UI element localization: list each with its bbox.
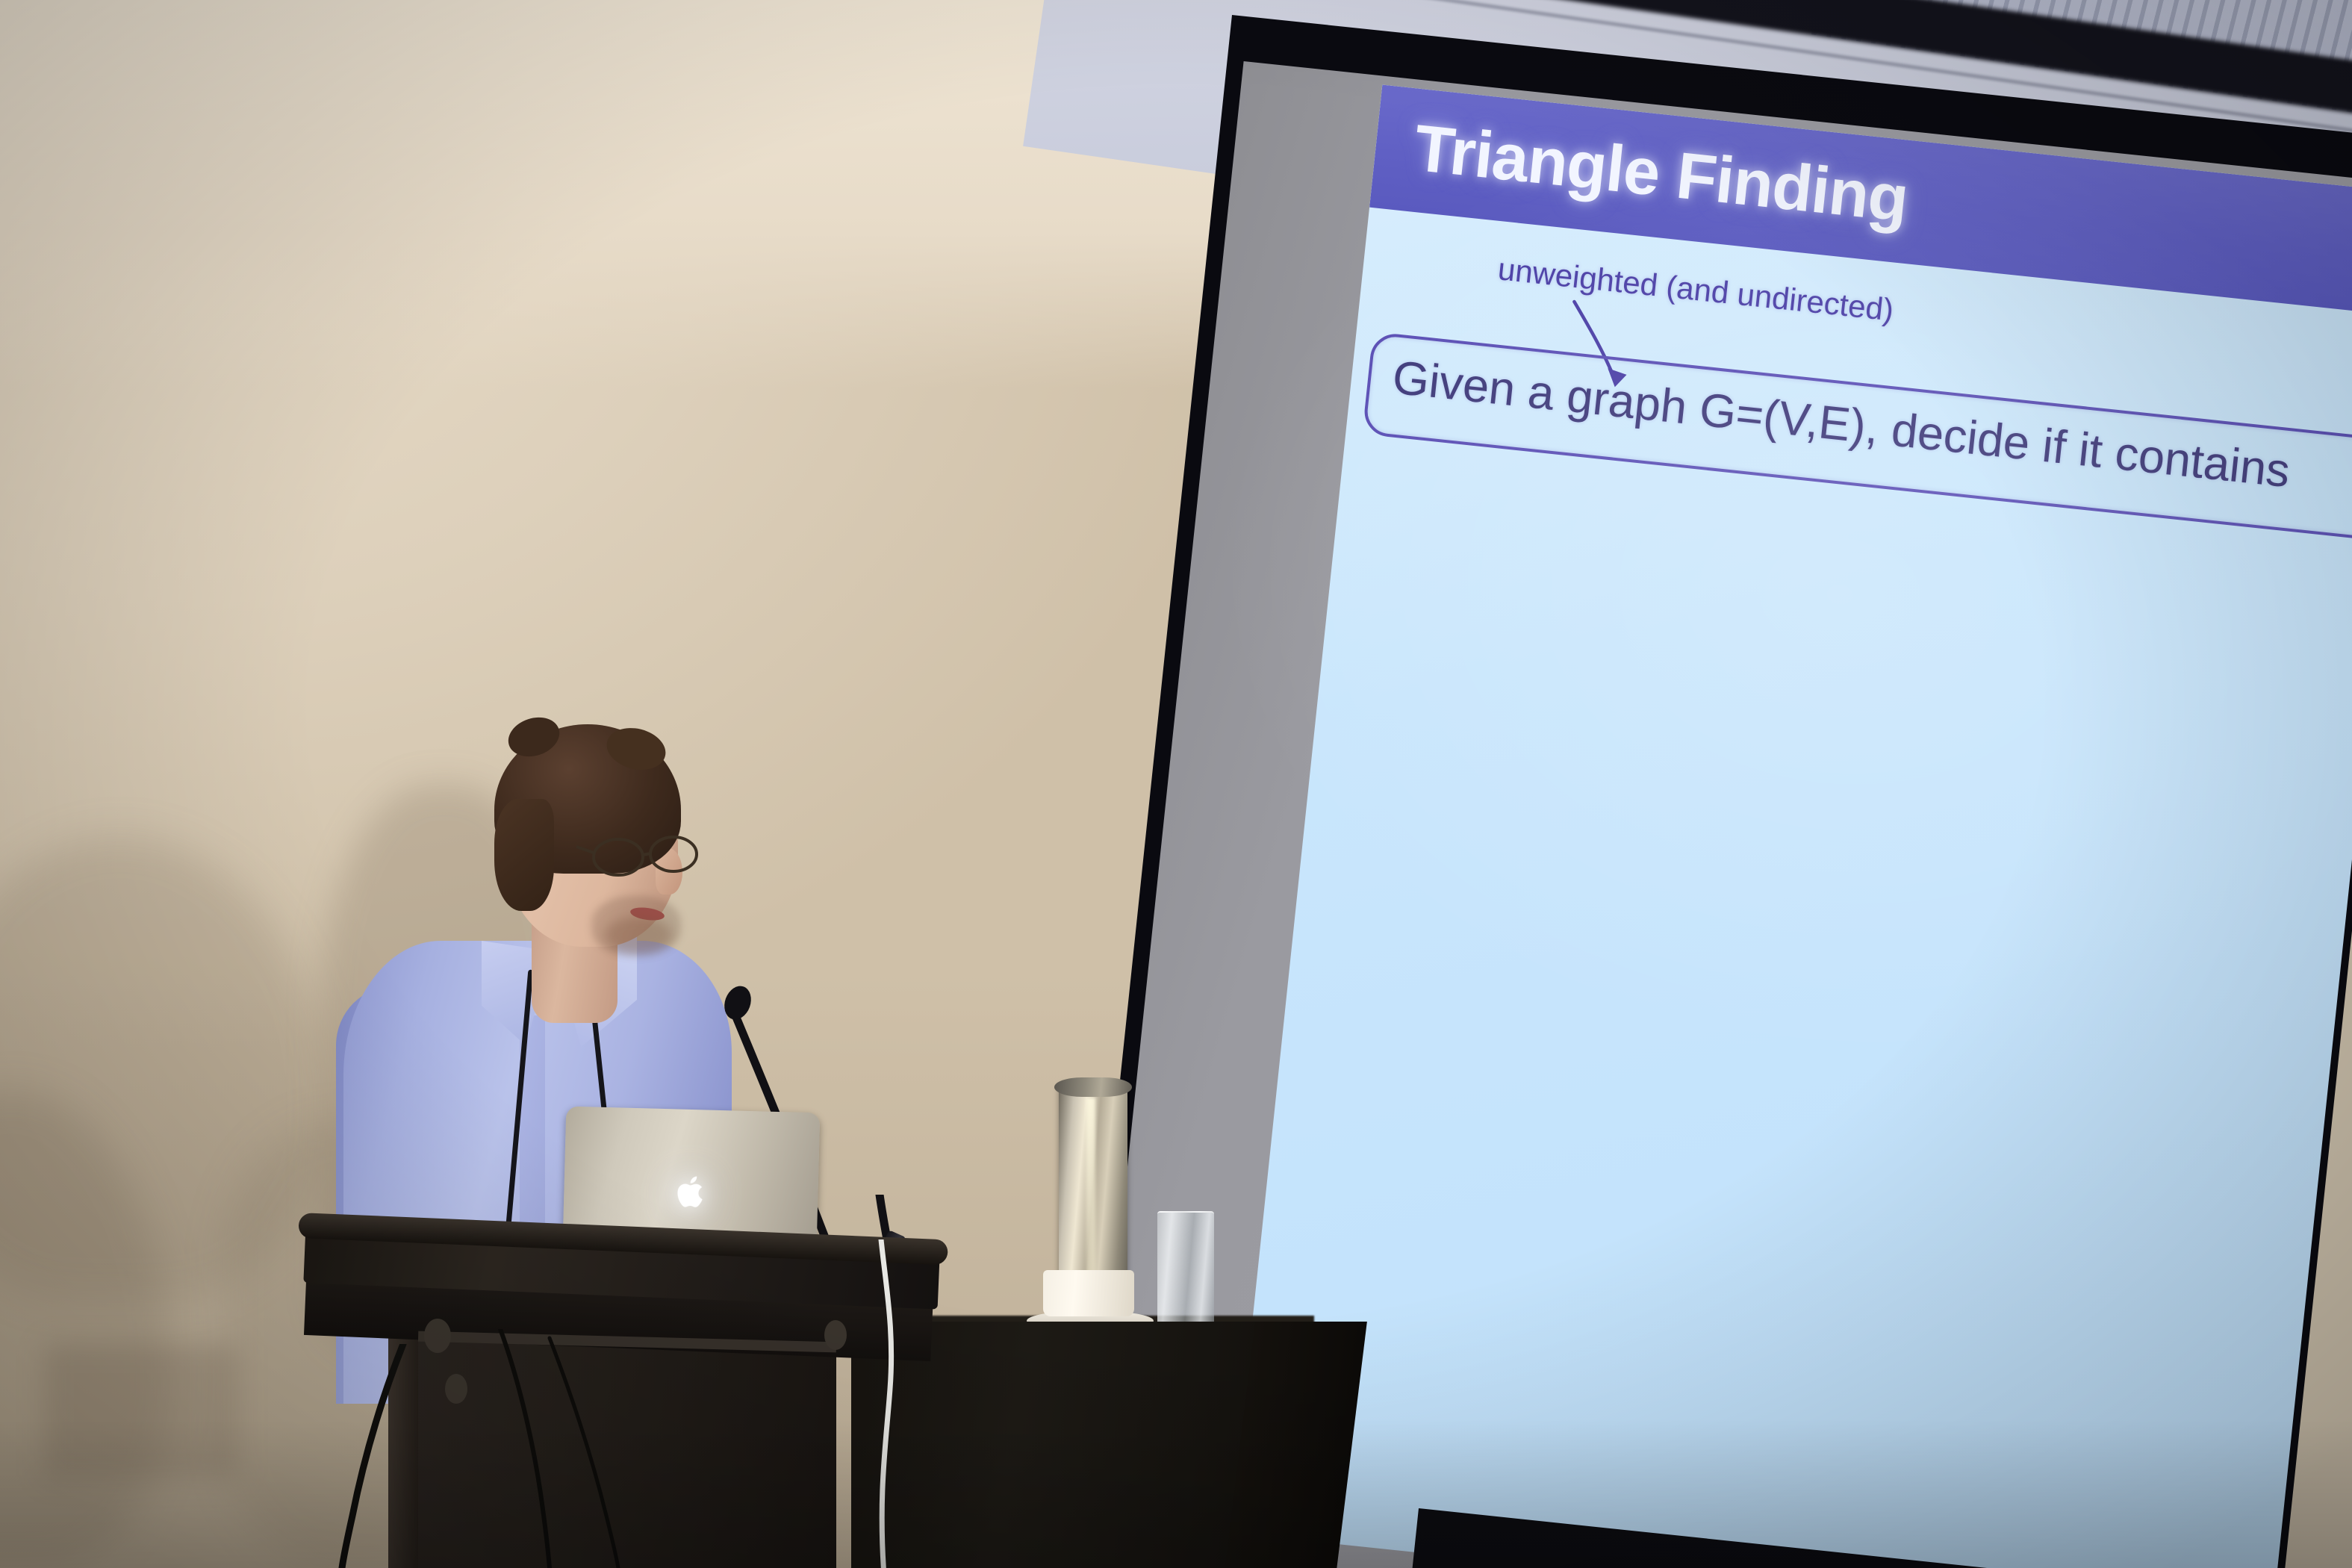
speaker-hair-side [494, 799, 554, 911]
slide-annotation: unweighted (and undirected) [1496, 251, 1895, 328]
apple-logo-icon [675, 1173, 709, 1210]
eyeglasses-icon [575, 827, 724, 880]
chin-shadow [605, 917, 672, 953]
coffee-cup [1043, 1270, 1134, 1316]
podium-cable [478, 1329, 672, 1568]
carafe-lid [1054, 1077, 1132, 1097]
presentation-photo-scene: Triangle Finding unweighted (and undirec… [0, 0, 2352, 1568]
drinking-glass [1157, 1211, 1214, 1332]
podium-knob [824, 1320, 847, 1350]
black-cable [314, 1344, 463, 1568]
white-cable [851, 1239, 971, 1568]
projected-slide: Triangle Finding unweighted (and undirec… [1230, 85, 2352, 1568]
